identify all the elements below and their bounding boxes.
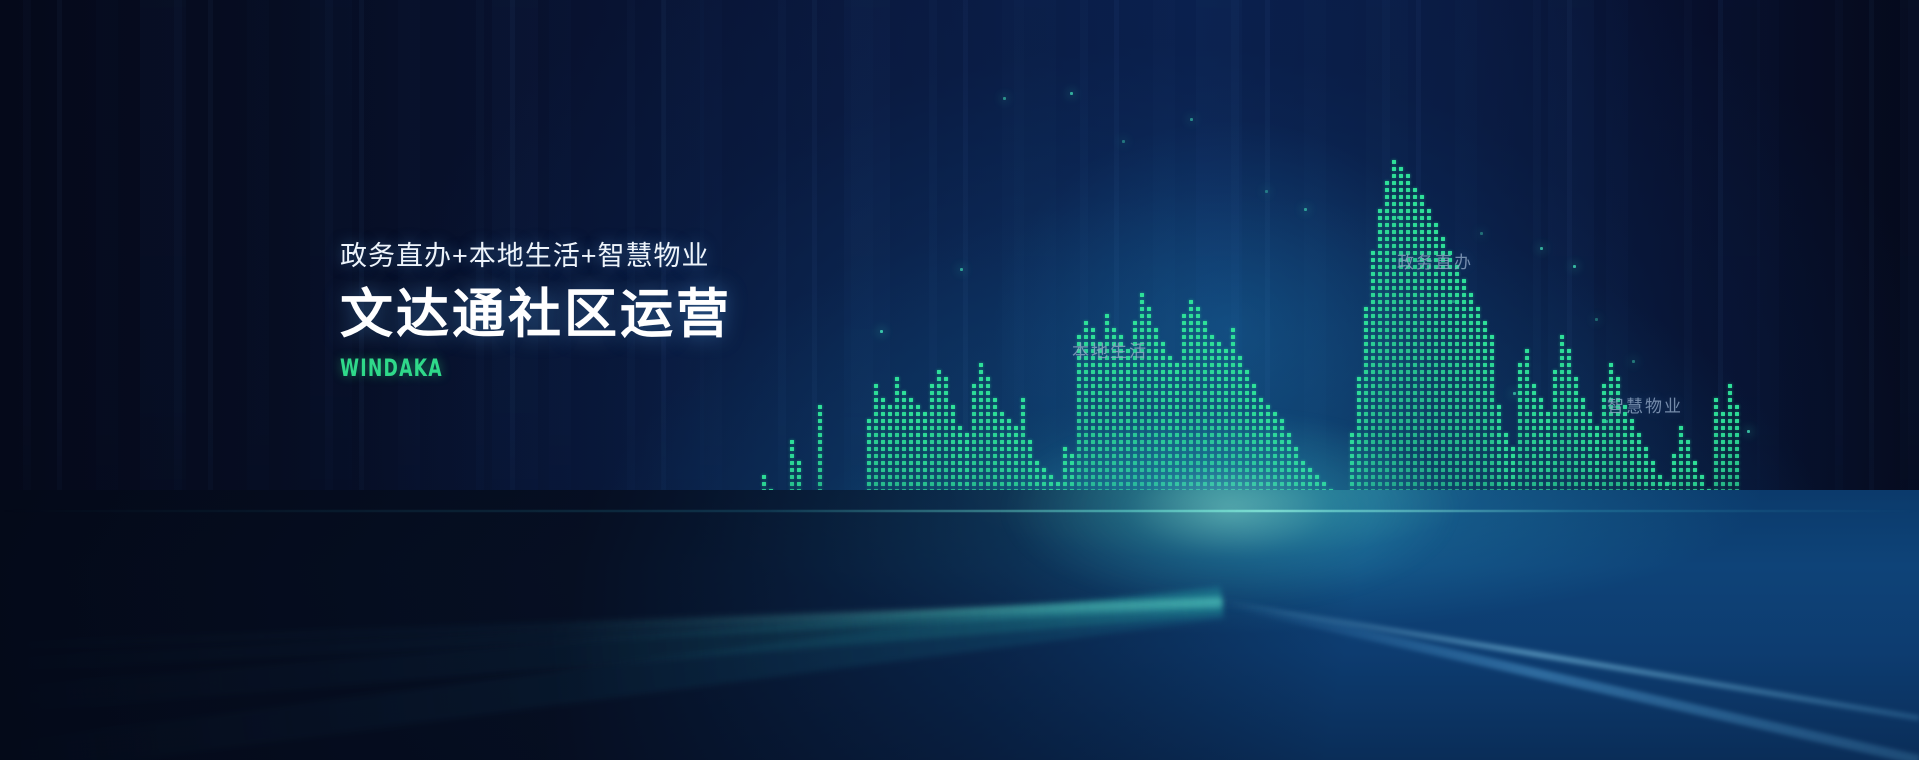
horizon-line bbox=[0, 510, 1919, 512]
banner-hero: 政务直办+本地生活+智慧物业 文达通社区运营 WINDAKA 政务直办 本地生活… bbox=[0, 0, 1919, 760]
banner-title: 文达通社区运营 bbox=[340, 285, 1040, 344]
ground-shadow bbox=[0, 490, 1919, 760]
vanishing-point-glow bbox=[1000, 410, 1460, 610]
floating-label-smart-property: 智慧物业 bbox=[1607, 392, 1683, 417]
brand-wordmark: WINDAKA bbox=[340, 354, 900, 382]
headline-block: 政务直办+本地生活+智慧物业 文达通社区运营 WINDAKA bbox=[340, 240, 1040, 382]
banner-subtitle: 政务直办+本地生活+智慧物业 bbox=[340, 240, 1040, 274]
floating-label-local-life: 本地生活 bbox=[1072, 337, 1148, 362]
floating-label-government: 政务直办 bbox=[1397, 248, 1473, 273]
